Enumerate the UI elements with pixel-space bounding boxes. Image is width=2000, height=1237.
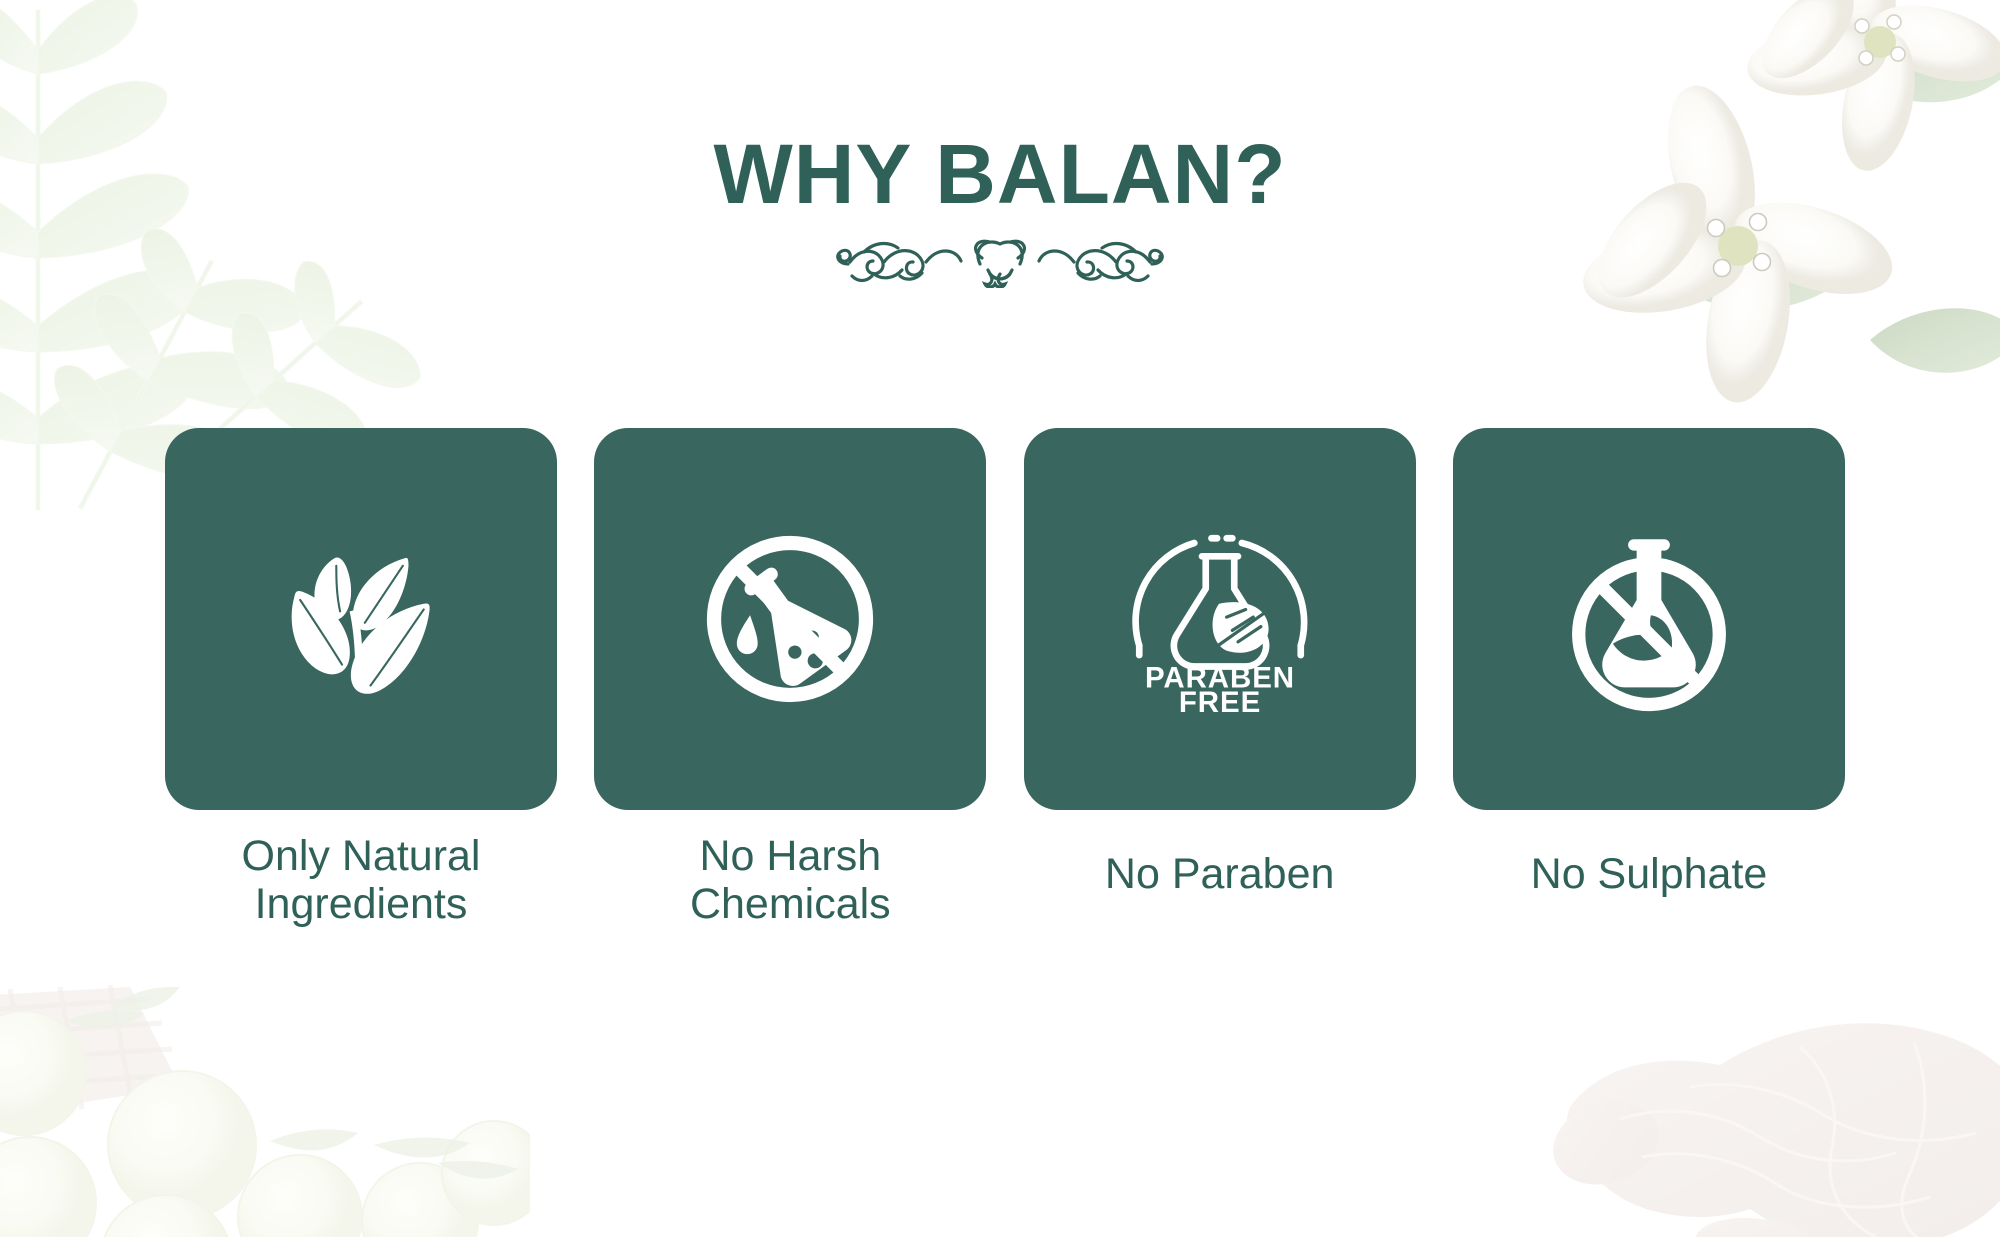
feature-card-no-harsh-chemicals[interactable]: No Harsh Chemicals [594,428,986,928]
no-chemicals-flask-prohibition-icon [695,524,885,714]
leaves-plant-icon [266,524,456,714]
icon-tile [1453,428,1845,810]
free-word: FREE [1179,686,1261,714]
floral-scroll-divider-icon [0,238,2000,284]
feature-card-no-sulphate[interactable]: No Sulphate [1453,428,1845,928]
feature-card-no-paraben[interactable]: PARABEN FREE No Paraben [1024,428,1416,928]
slide-why-balan: WHY BALAN? [0,0,2000,1237]
icon-tile: PARABEN FREE [1024,428,1416,810]
no-sulphate-flask-prohibition-icon [1554,524,1744,714]
feature-card-only-natural-ingredients[interactable]: Only Natural Ingredients [165,428,557,928]
card-label: No Harsh Chemicals [690,832,891,928]
card-label: No Paraben [1105,850,1335,898]
feature-card-grid: Only Natural Ingredients [165,428,1845,928]
icon-tile [165,428,557,810]
amla-gooseberry-basket-decoration [0,977,530,1237]
header: WHY BALAN? [0,132,2000,284]
card-label: No Sulphate [1531,850,1768,898]
dried-root-shikakai-decoration [1510,987,2000,1237]
paraben-free-badge-icon: PARABEN FREE [1120,524,1320,714]
page-title: WHY BALAN? [0,132,2000,216]
card-label: Only Natural Ingredients [242,832,481,928]
icon-tile [594,428,986,810]
